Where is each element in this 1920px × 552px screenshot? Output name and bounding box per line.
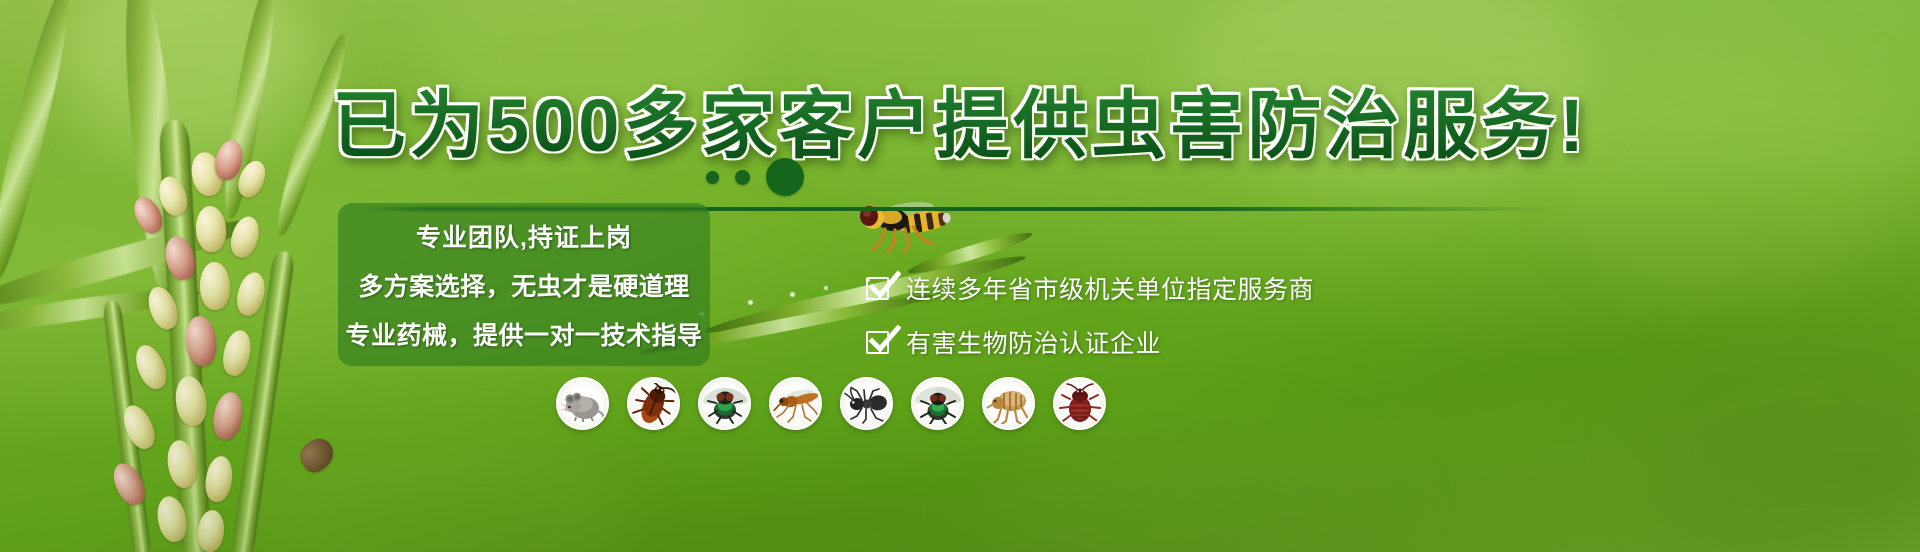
mouse-icon[interactable]	[556, 377, 609, 430]
decorative-dots	[706, 158, 804, 196]
checklist-item-label: 有害生物防治认证企业	[906, 324, 1161, 360]
mosquito-icon[interactable]	[769, 377, 822, 430]
dot-large	[766, 158, 804, 196]
dot-medium	[735, 170, 750, 185]
checklist-item: 有害生物防治认证企业	[866, 324, 1314, 360]
checkbox-checked-icon	[866, 275, 893, 302]
ant-icon[interactable]	[840, 377, 893, 430]
checklist-item: 连续多年省市级机关单位指定服务商	[866, 270, 1314, 306]
highlight-line-3: 专业药械，提供一对一技术指导	[345, 316, 702, 352]
flea-icon[interactable]	[982, 377, 1035, 430]
pest-icon-row	[556, 377, 1106, 430]
highlight-line-2: 多方案选择，无虫才是硬道理	[358, 267, 690, 303]
highlights-panel-text: 专业团队,持证上岗 多方案选择，无虫才是硬道理 专业药械，提供一对一技术指导	[338, 203, 710, 366]
page-title: 已为500多家客户提供虫害防治服务!	[0, 66, 1920, 173]
cockroach-icon[interactable]	[627, 377, 680, 430]
bedbug-icon[interactable]	[1053, 377, 1106, 430]
greenbottle-fly-icon[interactable]	[698, 377, 751, 430]
highlight-line-1: 专业团队,持证上岗	[416, 218, 632, 254]
dot-small	[706, 171, 719, 184]
credentials-checklist: 连续多年省市级机关单位指定服务商 有害生物防治认证企业	[866, 270, 1314, 360]
promo-banner: 已为500多家客户提供虫害防治服务! 专业团队,持证上岗 多方案选择，无虫才是硬…	[0, 0, 1920, 552]
checklist-item-label: 连续多年省市级机关单位指定服务商	[906, 270, 1314, 306]
checkbox-checked-icon	[866, 329, 893, 356]
fly-icon[interactable]	[911, 377, 964, 430]
